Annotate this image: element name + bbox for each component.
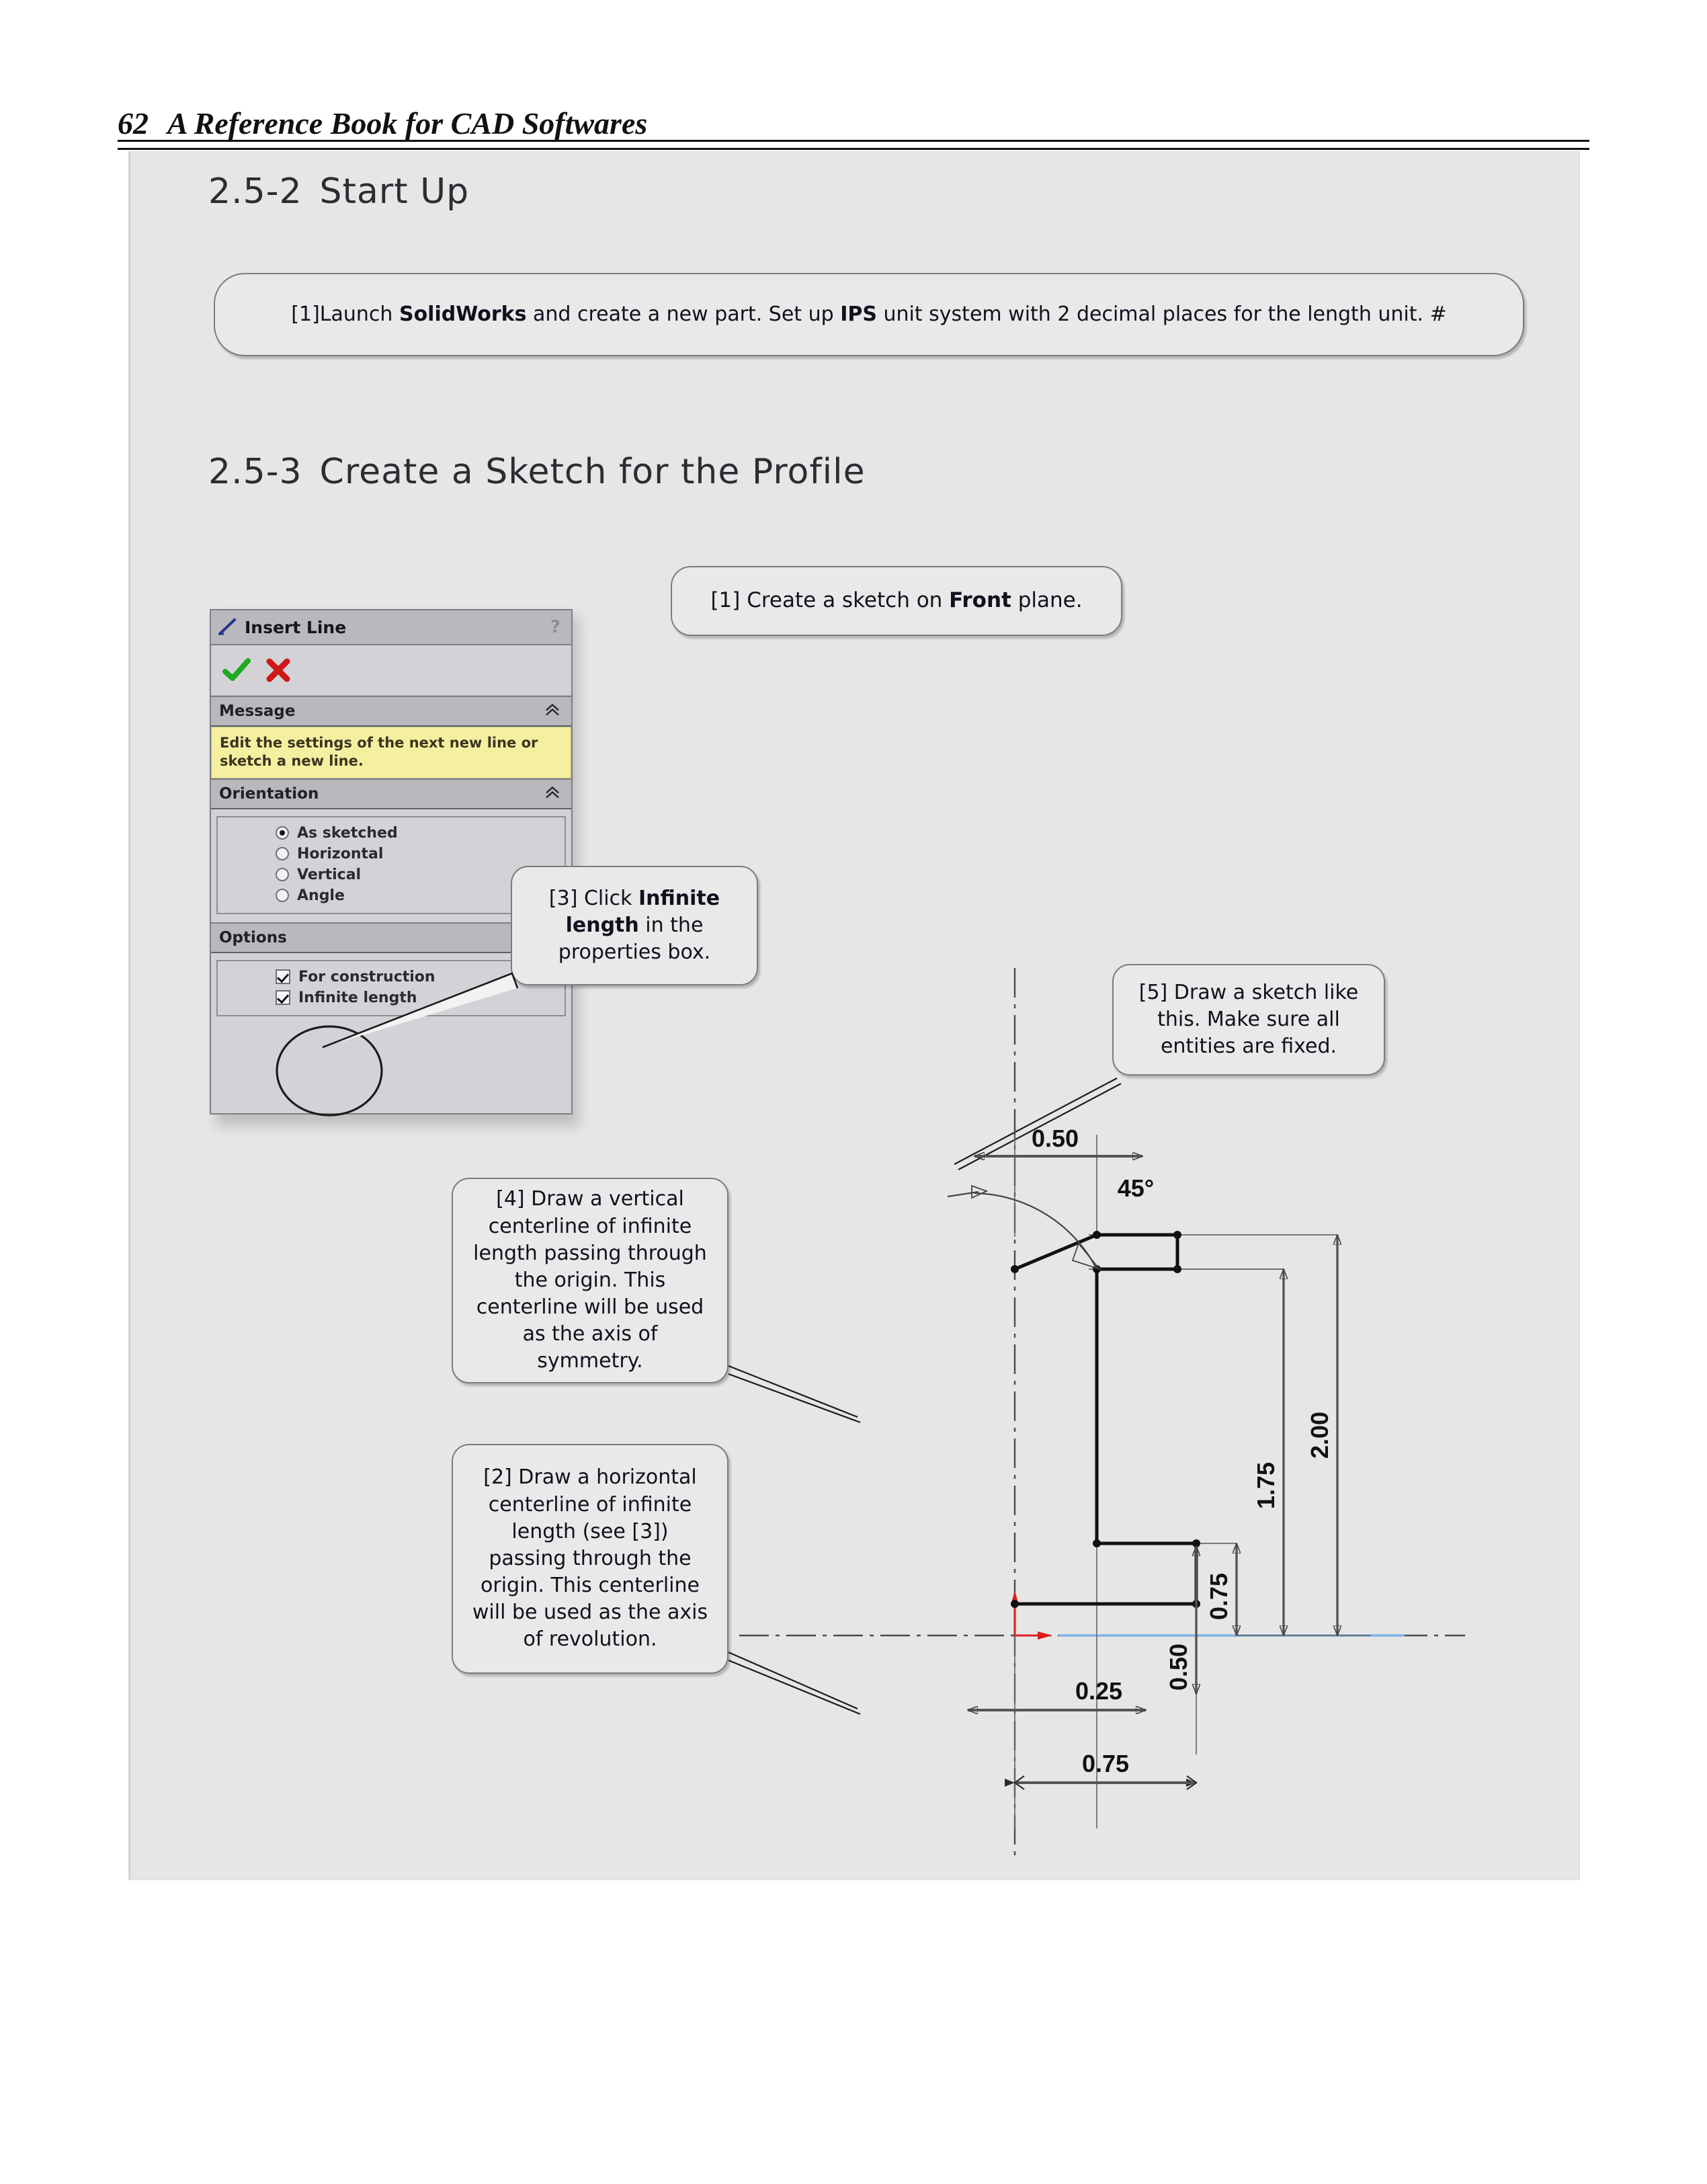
check-icon[interactable] (222, 657, 251, 684)
callout-line: entities are fixed. (1161, 1035, 1337, 1058)
running-title: A Reference Book for CAD Softwares (167, 106, 647, 141)
checkbox-icon[interactable] (276, 969, 290, 984)
callout-bold-front: Front (949, 588, 1011, 612)
radio-icon[interactable] (276, 889, 289, 902)
section-title: Create a Sketch for the Profile (320, 452, 866, 492)
callout-horizontal-centerline: [2] Draw a horizontal centerline of infi… (452, 1444, 728, 1674)
checkbox-infinite-length[interactable]: Infinite length (218, 987, 565, 1008)
section-header-orientation[interactable]: Orientation (211, 778, 571, 809)
radio-icon[interactable] (276, 826, 289, 840)
callout-vertical-centerline-text: [4] Draw a vertical centerline of infini… (453, 1186, 727, 1375)
callout-tag: [1] (291, 302, 320, 326)
callout-launch-text: [1]Launch SolidWorks and create a new pa… (274, 301, 1464, 328)
callout-click-infinite-length: [3] Click Infinite length in the propert… (511, 866, 758, 985)
callout-launch-solidworks: [1]Launch SolidWorks and create a new pa… (214, 273, 1524, 356)
callout-bold-ips: IPS (840, 302, 877, 326)
callout-text-part: Launch (320, 302, 399, 326)
callout-text-part: Create a sketch on (747, 588, 949, 612)
callout-text-part: unit system with 2 decimal places for th… (877, 302, 1447, 326)
radio-label: Vertical (297, 866, 361, 883)
radio-icon[interactable] (276, 847, 289, 860)
section-number: 2.5-3 (208, 452, 302, 492)
running-head: 62 A Reference Book for CAD Softwares (118, 94, 1589, 141)
callout-text-part: plane. (1011, 588, 1083, 612)
message-box: Edit the settings of the next new line o… (211, 727, 571, 778)
callout-draw-sketch-text: [5] Draw a sketch like this. Make sure a… (1122, 979, 1376, 1061)
radio-icon[interactable] (276, 868, 289, 881)
section-header-orientation-label: Orientation (219, 785, 319, 803)
radio-horizontal[interactable]: Horizontal (218, 844, 565, 864)
checkbox-label: For construction (298, 969, 435, 985)
callout-tag: [1] (710, 588, 740, 612)
section-header-message-label: Message (219, 702, 295, 720)
property-manager-actions (211, 645, 571, 696)
checkbox-label: Infinite length (298, 989, 417, 1006)
callout-sketch-front-text: [1] Create a sketch on Front plane. (693, 587, 1099, 615)
callout-draw-sketch: [5] Draw a sketch like this. Make sure a… (1112, 964, 1385, 1076)
property-manager-title: Insert Line (245, 618, 346, 637)
page-number: 62 (118, 106, 149, 141)
radio-label: Horizontal (297, 846, 383, 862)
section-header-options-label: Options (219, 929, 287, 946)
callout-vertical-centerline: [4] Draw a vertical centerline of infini… (452, 1178, 728, 1383)
radio-label: Angle (297, 887, 345, 904)
header-rule (118, 140, 1589, 150)
callout-create-sketch-front: [1] Create a sketch on Front plane. (671, 566, 1122, 636)
chevron-up-icon[interactable] (544, 784, 560, 803)
x-icon[interactable] (265, 657, 292, 684)
line-tool-icon (218, 617, 238, 637)
callout-tag: [3] (549, 887, 578, 910)
callout-horizontal-centerline-text: [2] Draw a horizontal centerline of infi… (453, 1464, 727, 1653)
callout-line: this. Make sure all (1157, 1008, 1340, 1031)
section-header-message[interactable]: Message (211, 696, 571, 727)
property-manager-insert-line[interactable]: Insert Line ? Message Edit the settings … (210, 609, 573, 1115)
chevron-up-icon[interactable] (544, 702, 560, 721)
section-title: Start Up (320, 171, 470, 212)
checkbox-icon[interactable] (276, 990, 290, 1005)
callout-line: [5] Draw a sketch like (1139, 981, 1358, 1004)
property-manager-titlebar: Insert Line ? (211, 610, 571, 645)
section-heading-2-5-2: 2.5-2Start Up (208, 171, 469, 212)
callout-infinite-text: [3] Click Infinite length in the propert… (512, 885, 757, 967)
callout-bold-solidworks: SolidWorks (399, 302, 527, 326)
radio-as-sketched[interactable]: As sketched (218, 823, 565, 844)
help-icon[interactable]: ? (550, 617, 560, 637)
section-number: 2.5-2 (208, 171, 302, 212)
callout-text-part: and create a new part. Set up (526, 302, 840, 326)
radio-label: As sketched (297, 825, 398, 842)
section-heading-2-5-3: 2.5-3Create a Sketch for the Profile (208, 452, 866, 492)
callout-text-part: Click (584, 887, 638, 910)
